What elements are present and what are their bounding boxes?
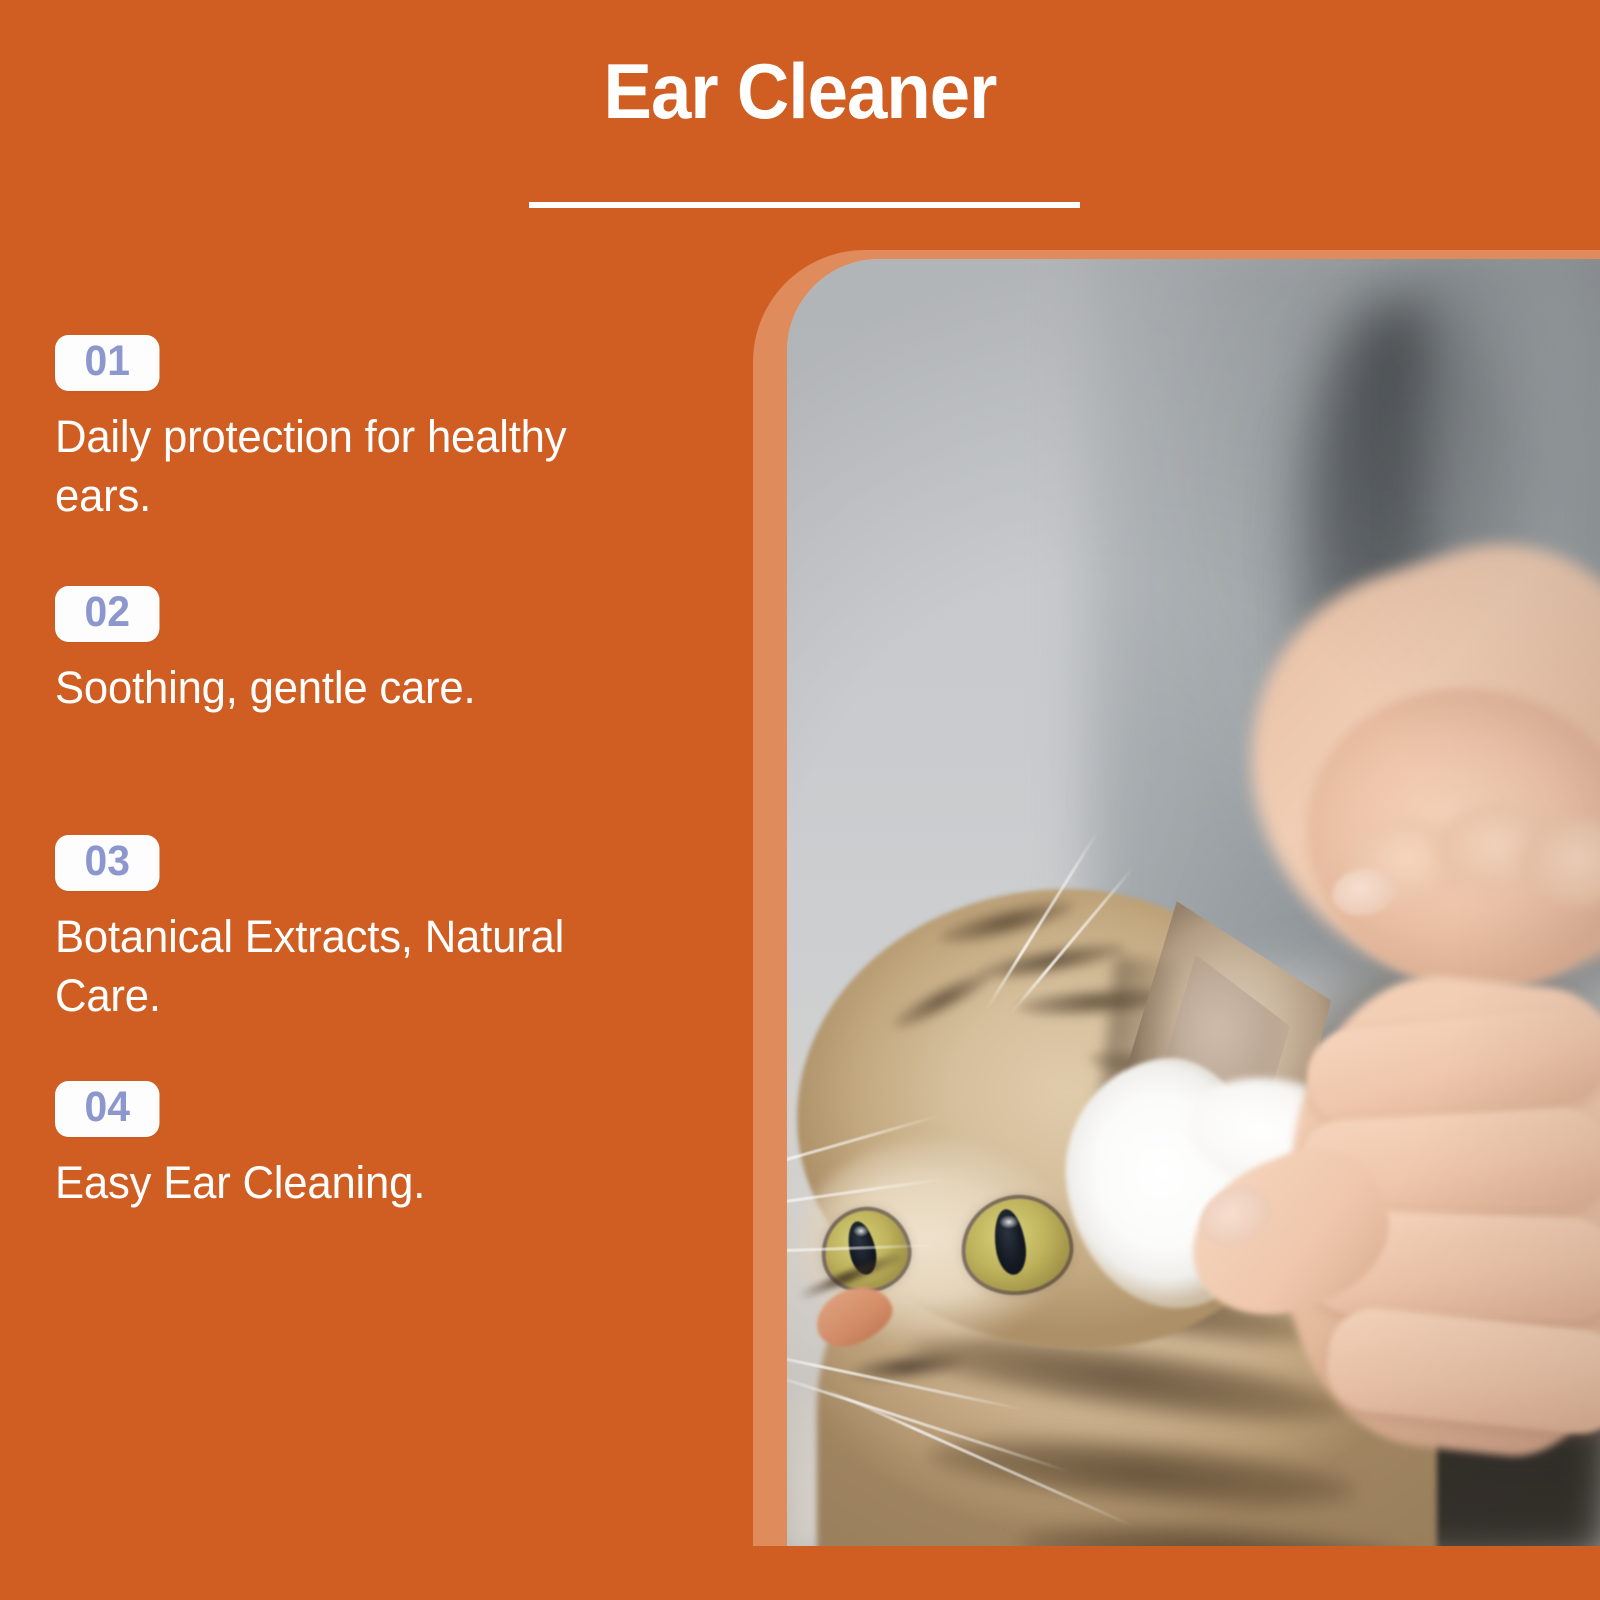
feature-number-badge: 03 [55,835,160,891]
header: Ear Cleaner [0,0,1600,250]
page-title: Ear Cleaner [56,52,1544,130]
feature-number-badge: 04 [55,1081,160,1137]
feature-text: Easy Ear Cleaning. [55,1153,661,1212]
photo-eye-highlight [853,1225,869,1237]
feature-item-01: 01 Daily protection for healthy ears. [55,335,695,526]
feature-item-02: 02 Soothing, gentle care. [55,586,695,717]
poster-canvas: Ear Cleaner 01 Daily protection for heal… [0,0,1600,1600]
feature-item-04: 04 Easy Ear Cleaning. [55,1081,695,1212]
feature-number-badge: 01 [55,335,160,391]
cat-ear-cleaning-photo [787,259,1600,1546]
photo-eye-highlight [999,1215,1019,1229]
feature-text: Botanical Extracts, Natural Care. [55,907,661,1026]
title-divider [529,202,1080,208]
feature-text: Soothing, gentle care. [55,658,661,717]
feature-item-03: 03 Botanical Extracts, Natural Care. [55,835,695,1026]
feature-text: Daily protection for healthy ears. [55,407,661,526]
feature-number-badge: 02 [55,586,160,642]
